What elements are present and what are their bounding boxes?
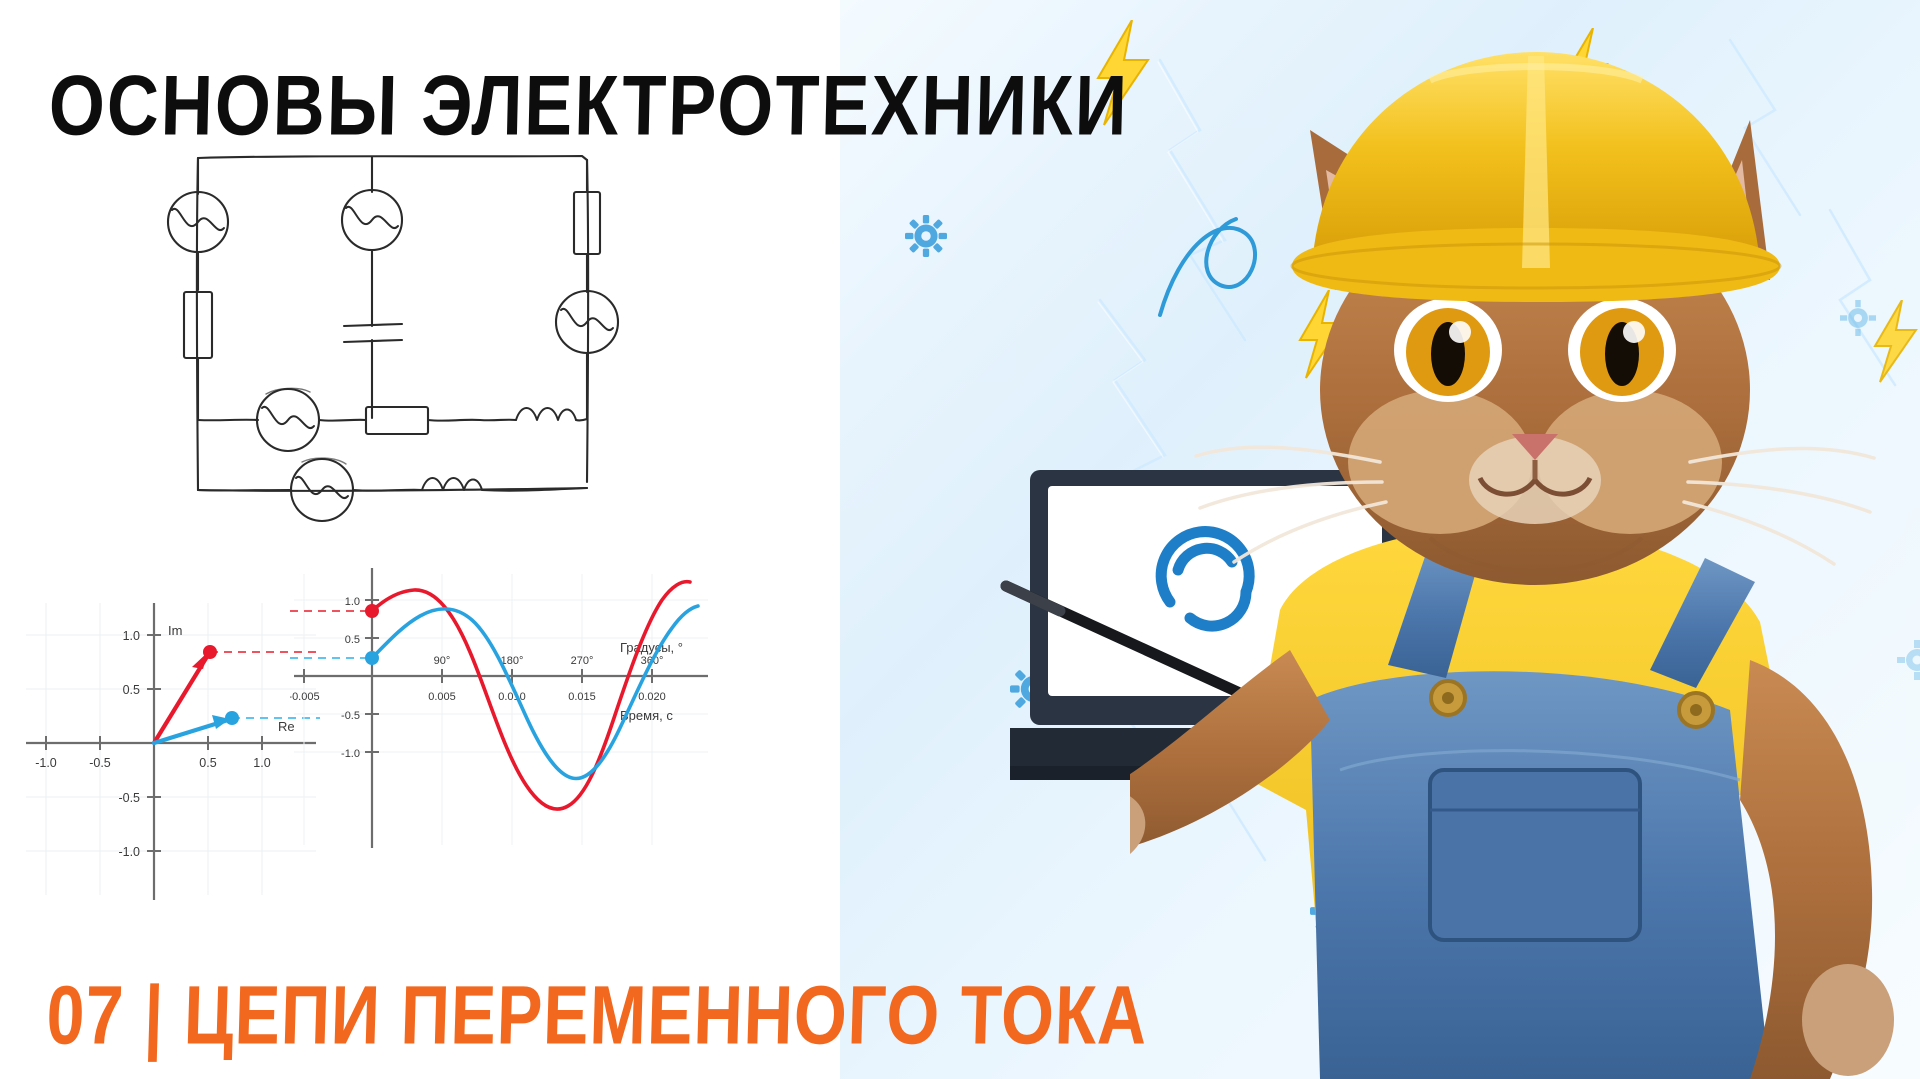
wave-xtick: 0.020 xyxy=(638,691,666,703)
wave-degtick: 270° xyxy=(571,655,594,667)
mid-branch xyxy=(198,420,258,421)
phasor-xtick: 1.0 xyxy=(253,756,270,770)
voltage-start-marker xyxy=(365,604,379,618)
phasor-xtick: 0.5 xyxy=(199,756,216,770)
ac-source-bottom xyxy=(291,458,353,521)
lesson-subtitle: 07 | ЦЕПИ ПЕРЕМЕННОГО ТОКА xyxy=(45,968,1348,1063)
wave-xtick: 0.005 xyxy=(428,691,456,703)
wave-degtick: 90° xyxy=(434,655,451,667)
ac-source-top-mid xyxy=(342,157,402,316)
wave-ytick: 1.0 xyxy=(345,596,360,608)
cat-engineer xyxy=(1130,10,1920,1079)
phasor-xtick: -1.0 xyxy=(35,756,57,770)
phasor-ytick: -0.5 xyxy=(118,791,140,805)
inductor-mid xyxy=(480,408,587,420)
wave-ytick: -1.0 xyxy=(341,748,360,760)
waveform-chart: -0.005 0.005 0.010 0.015 0.020 0° 90° 18… xyxy=(290,560,710,850)
circuit-diagram xyxy=(150,130,710,560)
wave-ytick: 0.5 xyxy=(345,634,360,646)
phasor-diagram-chart: -1.0 -0.5 0.5 1.0 1.0 0.5 -0.5 -1.0 Im R… xyxy=(20,595,320,905)
resistor-mid xyxy=(319,407,480,434)
wave-xtick: 0.010 xyxy=(498,691,526,703)
wave-deg-axis-label: Градусы, ° xyxy=(620,640,683,655)
phasor-ytick: -1.0 xyxy=(118,845,140,859)
phasor-ytick: 0.5 xyxy=(123,683,140,697)
hard-hat xyxy=(1292,52,1780,302)
phasor-ytick: 1.0 xyxy=(123,629,140,643)
current-start-marker xyxy=(365,651,379,665)
capacitor-mid xyxy=(344,316,402,418)
ac-source-right xyxy=(556,291,618,418)
slide-canvas: -1.0 -0.5 0.5 1.0 1.0 0.5 -0.5 -1.0 Im R… xyxy=(0,0,1920,1079)
wire-left xyxy=(197,158,198,490)
wave-xtick: 0.015 xyxy=(568,691,596,703)
page-title: ОСНОВЫ ЭЛЕКТРОТЕХНИКИ xyxy=(48,58,1150,155)
wire-top xyxy=(198,156,587,160)
phasor-ylabel: Im xyxy=(168,623,182,638)
gear-icon xyxy=(905,215,947,257)
wave-xtick: -0.005 xyxy=(290,691,320,703)
phasor-xtick: -0.5 xyxy=(89,756,111,770)
wave-ytick: -0.5 xyxy=(341,710,360,722)
current-phasor xyxy=(154,711,239,743)
ac-source-mid-left xyxy=(257,388,319,451)
